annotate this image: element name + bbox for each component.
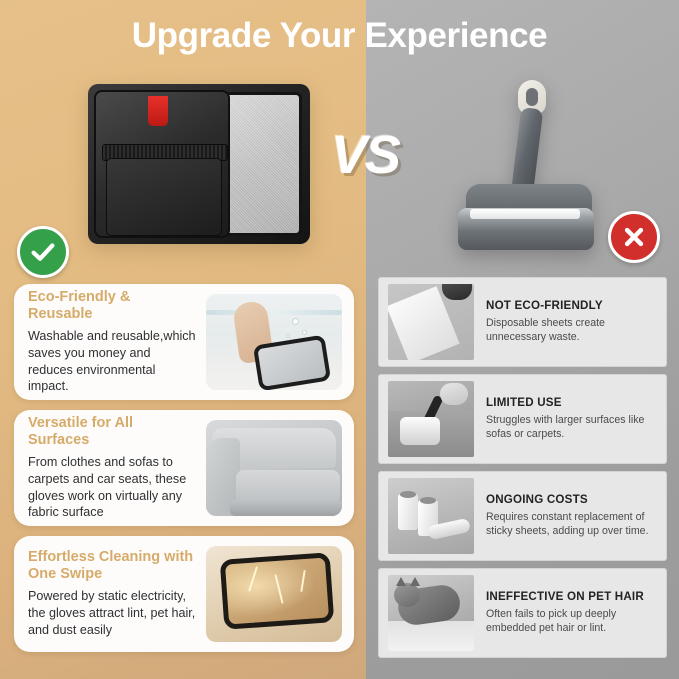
benefit-card-text: Eco-Friendly & Reusable Washable and reu…: [28, 289, 206, 396]
glove-fabric-panel: [218, 92, 302, 236]
static-electricity-pad-thumbnail: [206, 546, 342, 642]
glove-flap: [94, 90, 230, 238]
hero-image-reusable-glove: [88, 84, 310, 244]
benefit-card-text: Versatile for All Surfaces From clothes …: [28, 415, 206, 522]
benefit-card-text: Effortless Cleaning with One Swipe Power…: [28, 549, 206, 639]
glove-pocket: [106, 158, 222, 236]
benefit-card-title: Versatile for All Surfaces: [28, 415, 198, 449]
benefit-card: Eco-Friendly & Reusable Washable and reu…: [14, 284, 354, 400]
bubble-icon: [286, 334, 290, 338]
drawback-card-text: NOT ECO-FRIENDLY Disposable sheets creat…: [474, 300, 658, 345]
peeling-sticky-sheet-thumbnail: [388, 284, 474, 360]
drawback-card: ONGOING COSTS Requires constant replacem…: [378, 471, 667, 561]
washing-pad-under-water-thumbnail: [206, 294, 342, 390]
drawback-card-body: Struggles with larger surfaces like sofa…: [486, 413, 656, 441]
drawback-card-text: ONGOING COSTS Requires constant replacem…: [474, 494, 658, 539]
hand: [440, 383, 468, 405]
glove-red-tab: [148, 96, 168, 126]
benefits-card-list: Eco-Friendly & Reusable Washable and reu…: [14, 284, 354, 652]
refill-rolls-thumbnail: [388, 478, 474, 554]
benefit-card-title: Eco-Friendly & Reusable: [28, 289, 198, 323]
check-circle-icon: [17, 226, 69, 278]
comparison-infographic: Upgrade Your Experience VS Eco: [0, 0, 679, 679]
benefit-card-title: Effortless Cleaning with One Swipe: [28, 549, 198, 583]
drawback-card-body: Often fails to pick up deeply embedded p…: [486, 607, 656, 635]
drawback-card-body: Disposable sheets create unnecessary was…: [486, 316, 656, 344]
benefit-card-body: Powered by static electricity, the glove…: [28, 588, 198, 639]
benefit-card-body: Washable and reusable,which saves you mo…: [28, 328, 198, 396]
drawback-card-text: LIMITED USE Struggles with larger surfac…: [474, 397, 658, 442]
drawback-card-body: Requires constant replacement of sticky …: [486, 510, 656, 538]
roller-drum-small: [400, 417, 440, 445]
drawback-card-title: ONGOING COSTS: [486, 494, 656, 507]
sofa-seat: [236, 470, 340, 504]
cleaning-pad: [253, 335, 331, 390]
roller-on-carpet-thumbnail: [388, 381, 474, 457]
gray-sofa-thumbnail: [206, 420, 342, 516]
vs-badge: VS: [329, 126, 401, 184]
drawback-card-title: NOT ECO-FRIENDLY: [486, 300, 656, 313]
cat-ear: [410, 577, 420, 586]
drawback-card: NOT ECO-FRIENDLY Disposable sheets creat…: [378, 277, 667, 367]
cat-ear: [396, 577, 406, 586]
bubble-icon: [292, 318, 299, 325]
fingers: [442, 284, 472, 300]
refill-roll: [398, 494, 418, 530]
bubble-icon: [302, 330, 307, 335]
drawback-card-title: LIMITED USE: [486, 397, 656, 410]
sofa-base: [230, 500, 342, 516]
drawback-card-text: INEFFECTIVE ON PET HAIR Often fails to p…: [474, 591, 658, 636]
fabric-surface: [388, 621, 474, 651]
waterline: [206, 310, 342, 315]
drawback-card-title: INEFFECTIVE ON PET HAIR: [486, 591, 656, 604]
cat-shedding-fur-thumbnail: [388, 575, 474, 651]
benefit-card-body: From clothes and sofas to carpets and ca…: [28, 454, 198, 522]
cat-head: [394, 583, 420, 607]
benefit-card: Effortless Cleaning with One Swipe Power…: [14, 536, 354, 652]
roller-sticky-sheet: [470, 209, 580, 219]
static-pad: [220, 552, 335, 630]
drawback-card: INEFFECTIVE ON PET HAIR Often fails to p…: [378, 568, 667, 658]
page-title: Upgrade Your Experience: [0, 16, 679, 56]
cross-circle-icon: [608, 211, 660, 263]
drawback-card: LIMITED USE Struggles with larger surfac…: [378, 374, 667, 464]
benefit-card: Versatile for All Surfaces From clothes …: [14, 410, 354, 526]
drawbacks-card-list: NOT ECO-FRIENDLY Disposable sheets creat…: [378, 277, 667, 658]
hero-image-lint-roller: [448, 80, 608, 245]
